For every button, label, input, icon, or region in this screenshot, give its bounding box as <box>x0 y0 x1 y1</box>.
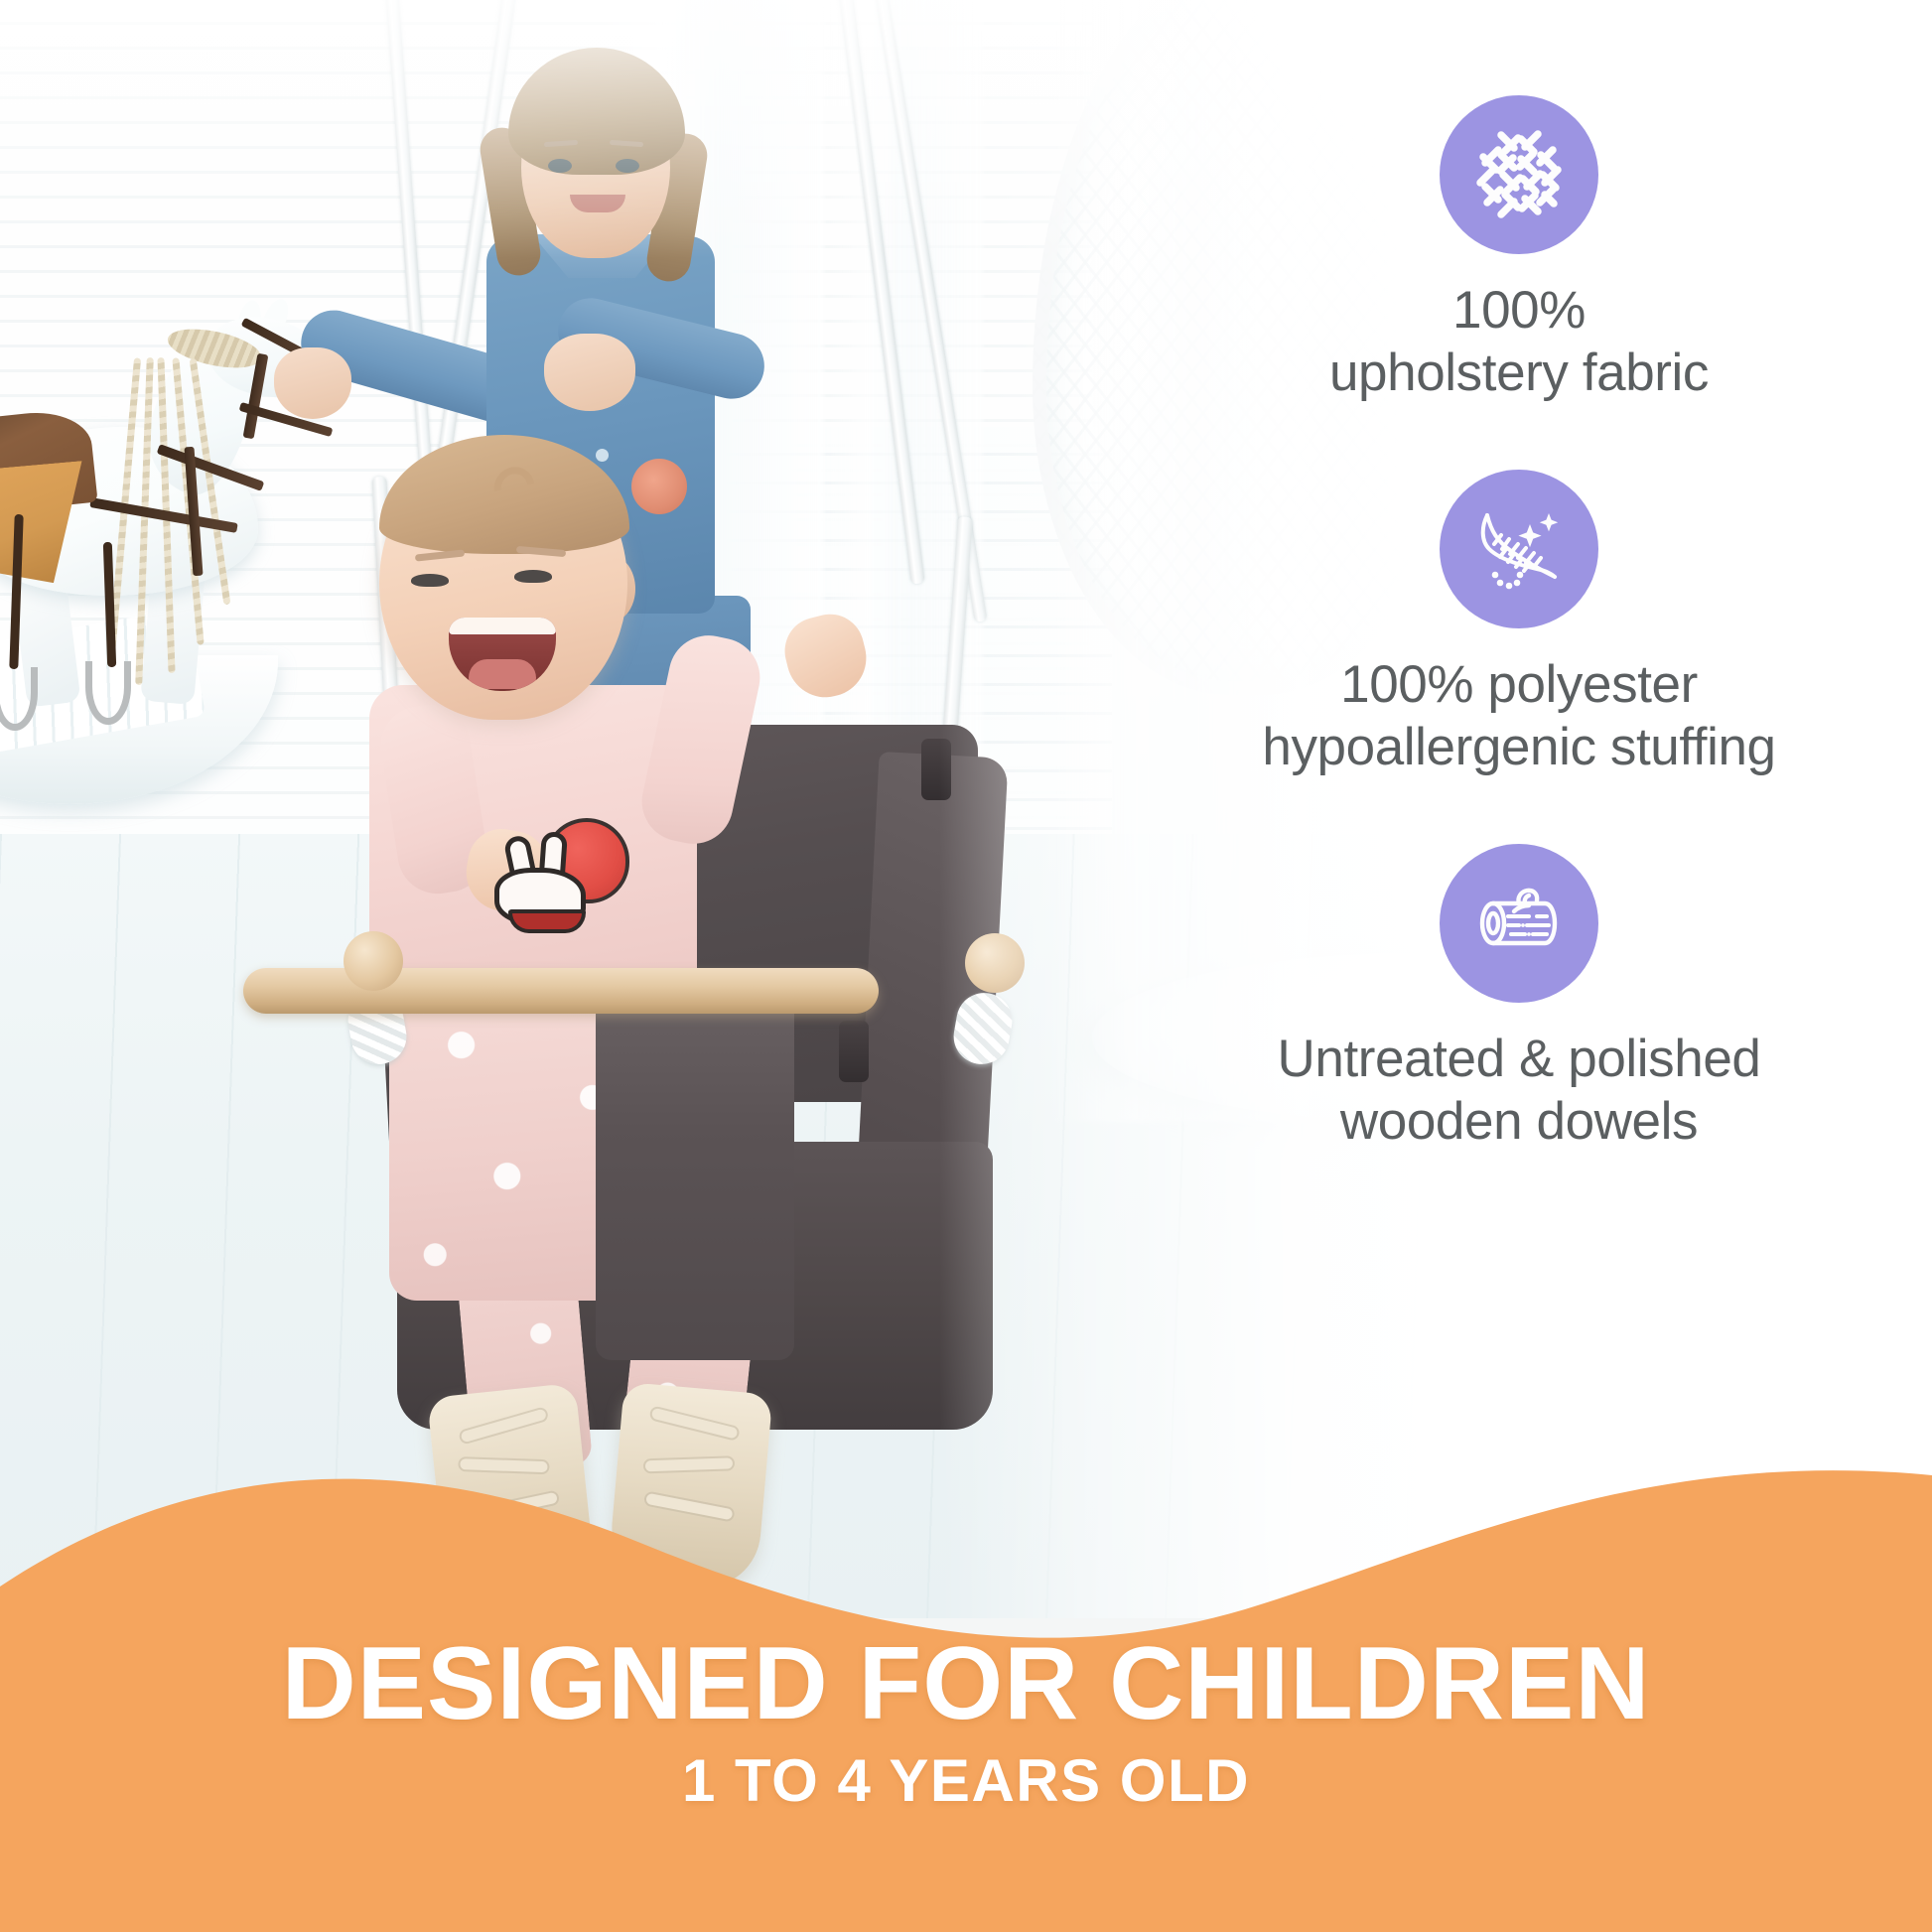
bunny-mouth <box>508 909 586 933</box>
baby-tongue <box>469 659 536 689</box>
baby-eye <box>411 574 449 587</box>
banner-subtitle: 1 TO 4 YEARS OLD <box>0 1746 1932 1815</box>
feather-sparkle-icon <box>1440 470 1598 628</box>
swing-buckle <box>839 1021 869 1082</box>
wooden-dowel-bar <box>243 968 879 1014</box>
woven-fabric-icon <box>1440 95 1598 254</box>
shirt-button <box>596 449 609 462</box>
girl-left-hand <box>274 347 351 419</box>
feature-list: 100% upholstery fabric <box>1142 95 1896 1153</box>
bunny-graphic-print <box>494 818 598 937</box>
shirt-patch <box>631 459 687 514</box>
feature-label-polyester-stuffing: 100% polyester hypoallergenic stuffing <box>1262 654 1775 778</box>
baby-eye <box>514 570 552 583</box>
banner-title: DESIGNED FOR CHILDREN <box>0 1631 1932 1736</box>
girl-right-hand <box>544 334 635 411</box>
infographic-canvas: 100% upholstery fabric <box>0 0 1932 1932</box>
feature-item-polyester-stuffing: 100% polyester hypoallergenic stuffing <box>1142 470 1896 778</box>
wooden-log-icon <box>1440 844 1598 1003</box>
baby-teeth <box>449 618 556 634</box>
banner-text-block: DESIGNED FOR CHILDREN 1 TO 4 YEARS OLD <box>0 1631 1932 1815</box>
feature-item-upholstery-fabric: 100% upholstery fabric <box>1142 95 1896 404</box>
feature-label-wooden-dowels: Untreated & polished wooden dowels <box>1278 1029 1761 1153</box>
swing-seat-front-flap <box>596 973 794 1360</box>
feature-label-upholstery-fabric: 100% upholstery fabric <box>1329 280 1709 404</box>
dowel-end-knob <box>344 931 403 991</box>
feature-item-wooden-dowels: Untreated & polished wooden dowels <box>1142 844 1896 1153</box>
bottom-banner: DESIGNED FOR CHILDREN 1 TO 4 YEARS OLD <box>0 1356 1932 1932</box>
